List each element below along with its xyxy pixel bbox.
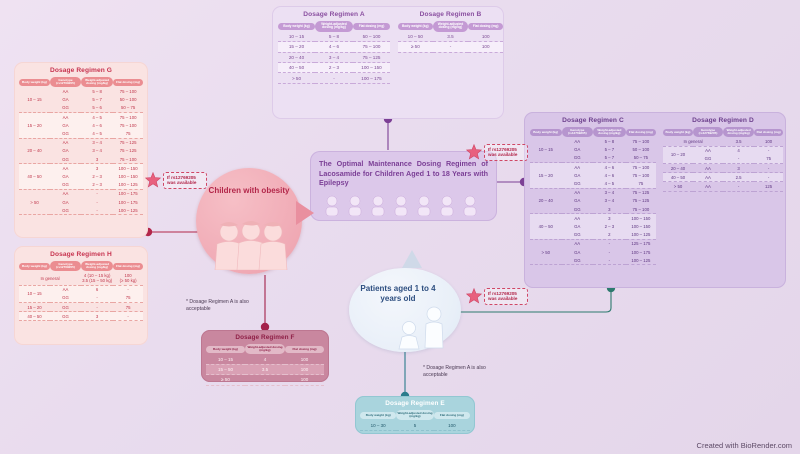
cell-genotype: GA <box>562 248 594 256</box>
cell-body-weight: 10 – 15 <box>19 285 50 302</box>
table-row: 10 – 15AA5 – 875 – 100 <box>530 137 656 145</box>
table-regimen-d: Dosage Regimen D Body weight (kg) Genoty… <box>663 117 783 283</box>
cell-weight-adjusted: 3 <box>593 205 626 214</box>
table-row: 20 – 40AA3 – 475 – 125 <box>530 188 656 197</box>
cell-weight-adjusted: - <box>315 73 353 83</box>
cell-flat-dosing: 75 – 100 <box>113 87 143 95</box>
cell-flat-dosing: 100 – 125 <box>113 206 143 215</box>
table-row: 40 – 50GG3- <box>19 312 143 321</box>
cell-weight-adjusted: 4 – 6 <box>315 42 353 52</box>
cell-genotype: GA <box>562 197 594 205</box>
cell-weight-adjusted: 3 – 4 <box>593 188 626 197</box>
cell-flat-dosing: 75 – 125 <box>626 197 656 205</box>
cell-genotype: GG <box>50 104 81 113</box>
cell-weight-adjusted: 4 – 5 <box>81 113 113 122</box>
cell-weight-adjusted: 4 <box>723 146 754 155</box>
cell-weight-adjusted: 2 – 3 <box>81 172 113 180</box>
header-flat-dosing: Flat dosing (mg) <box>353 23 390 30</box>
table-row: > 50AA-100 – 175 <box>19 189 143 198</box>
cell-genotype: GG <box>50 303 81 312</box>
regimen-g-title: Dosage Regimen G <box>19 67 143 74</box>
panel-regimen-a-b: Dosage Regimen A Body weight (kg) Weight… <box>272 6 504 119</box>
header-genotype: Genotype (rs12769205) <box>693 127 723 137</box>
cell-flat-dosing: 125 <box>754 182 783 191</box>
cell-body-weight: In general <box>663 137 723 146</box>
cell-flat-dosing: 75 <box>113 303 143 312</box>
header-body-weight: Body weight (kg) <box>206 346 245 353</box>
cell-flat-dosing: 50 – 100 <box>113 96 143 104</box>
cell-weight-adjusted: 4 – 5 <box>81 129 113 138</box>
table-row: 20 – 403 – 475 – 125 <box>278 52 390 62</box>
page-title: The Optimal Maintenance Dosing Regimen o… <box>319 159 488 188</box>
cell-body-weight: 10 – 15 <box>278 32 315 42</box>
cell-genotype: GG <box>50 129 81 138</box>
cell-flat-dosing: 100 – 150 <box>626 214 656 223</box>
cell-body-weight: 10 – 15 <box>530 137 562 162</box>
cell-weight-adjusted: - <box>723 182 754 191</box>
cell-weight-adjusted: 4 – 6 <box>593 171 626 179</box>
cell-weight-adjusted: 4 – 5 <box>593 179 626 188</box>
cell-flat-dosing: 100 <box>468 32 503 42</box>
cell-flat-dosing: 75 – 125 <box>353 52 390 62</box>
cell-body-weight: 40 – 50 <box>19 164 50 190</box>
cell-weight-adjusted: - <box>593 256 626 265</box>
young-patients-label: Patients aged 1 to 4 years old <box>355 284 441 304</box>
cell-flat-dosing: - <box>113 285 143 294</box>
table-row: 10 – 15AA5 – 875 – 100 <box>19 87 143 95</box>
cell-genotype: GA <box>562 146 594 154</box>
cell-genotype: GG <box>562 231 594 240</box>
young-patients-note: * Dosage Regimen A is also acceptable <box>423 365 509 378</box>
cell-body-weight: 15 – 20 <box>19 113 50 139</box>
cell-flat-dosing: 100 <box>285 354 324 364</box>
cell-weight-adjusted: - <box>593 239 626 248</box>
header-flat-dosing: Flat dosing (mg) <box>468 23 503 30</box>
table-row: 20 – 40AA3 – 475 – 125 <box>19 138 143 147</box>
panel-regimen-c-d: Dosage Regimen C Body weight (kg) Genoty… <box>524 112 786 288</box>
header-flat-dosing: Flat dosing (mg) <box>113 79 143 86</box>
cell-flat-dosing: 100 – 175 <box>353 73 390 83</box>
cell-weight-adjusted: - <box>81 294 113 303</box>
cell-weight-adjusted: 3 <box>81 155 113 164</box>
cell-body-weight: 10 – 30 <box>360 420 396 430</box>
header-body-weight: Body weight (kg) <box>663 129 693 136</box>
cell-body-weight: > 50 <box>663 182 693 191</box>
callout-right-text: If rs12769205 was available <box>484 144 528 161</box>
table-row: 15 – 204 – 675 – 100 <box>278 42 390 52</box>
star-icon <box>466 288 482 304</box>
cell-body-weight: 15 – 20 <box>19 303 50 312</box>
cell-genotype: AA <box>562 188 594 197</box>
cell-flat-dosing: 125 – 175 <box>626 239 656 248</box>
cell-flat-dosing: 100 – 150 <box>113 164 143 173</box>
cell-weight-adjusted: 2 – 3 <box>315 63 353 73</box>
cell-genotype: AA <box>50 113 81 122</box>
cell-weight-adjusted: 5 – 7 <box>593 154 626 163</box>
cell-body-weight: > 50 <box>530 239 562 265</box>
cell-genotype: AA <box>50 164 81 173</box>
table-row: > 50AA-125 <box>663 182 783 191</box>
callout-left-rs12769205: If rs12769205 was available <box>145 172 207 189</box>
cell-body-weight: 10 – 50 <box>398 32 433 42</box>
regimen-h-title: Dosage Regimen H <box>19 251 143 258</box>
obese-children-icon <box>205 220 297 270</box>
cell-flat-dosing: 100 – 175 <box>113 189 143 198</box>
table-regimen-c: Dosage Regimen C Body weight (kg) Genoty… <box>530 117 656 283</box>
cell-genotype: GG <box>50 206 81 215</box>
cell-flat-dosing: - <box>754 173 783 182</box>
regimen-d-title: Dosage Regimen D <box>663 117 783 124</box>
cell-body-weight: 40 – 50 <box>19 312 50 321</box>
cell-flat-dosing: 75 – 100 <box>626 171 656 179</box>
cell-weight-adjusted: 4 – 6 <box>81 121 113 129</box>
table-row: In general4 (10 – 15 kg) 3.5 (15 – 50 kg… <box>19 271 143 285</box>
young-patients-bubble: Patients aged 1 to 4 years old <box>349 268 461 352</box>
header-body-weight: Body weight (kg) <box>360 412 396 419</box>
cell-genotype: AA <box>50 285 81 294</box>
header-body-weight: Body weight (kg) <box>19 79 50 86</box>
cell-body-weight: 40 – 50 <box>530 214 562 240</box>
cell-genotype: GA <box>562 171 594 179</box>
obesity-group-bubble: Children with obesity <box>196 168 302 274</box>
table-row: 10 – 503.5100 <box>398 32 503 42</box>
cell-weight-adjusted: 5 – 8 <box>593 137 626 145</box>
cell-genotype: GG <box>562 205 594 214</box>
cell-weight-adjusted: 4 (10 – 15 kg) 3.5 (15 – 50 kg) <box>81 271 113 285</box>
cell-weight-adjusted: - <box>81 303 113 312</box>
table-row: 10 – 305100 <box>360 420 470 430</box>
header-weight-adjusted: Weight-adjusted dosing (mg/kg) <box>315 21 353 32</box>
children-row-icon <box>320 194 488 216</box>
cell-genotype: GG <box>562 179 594 188</box>
table-row: ≥ 50-100 <box>398 42 503 52</box>
cell-genotype: GG <box>693 155 723 164</box>
panel-regimen-h: Dosage Regimen H Body weight (kg) Genoty… <box>14 246 148 345</box>
cell-flat-dosing: 75 – 100 <box>626 137 656 145</box>
header-genotype: Genotype (rs12769205) <box>50 77 81 87</box>
cell-flat-dosing: 75 – 100 <box>626 205 656 214</box>
cell-weight-adjusted: 2 – 3 <box>81 181 113 190</box>
table-row: 10 – 154100 <box>206 354 324 364</box>
cell-weight-adjusted: 5 <box>396 420 433 430</box>
cell-genotype: GG <box>562 256 594 265</box>
cell-genotype: GG <box>50 294 81 303</box>
panel-regimen-f: Dosage Regimen F Body weight (kg) Weight… <box>201 330 329 382</box>
cell-genotype: GA <box>562 222 594 230</box>
cell-flat-dosing: 100 – 125 <box>113 181 143 190</box>
cell-flat-dosing: 75 – 100 <box>113 113 143 122</box>
cell-weight-adjusted: - <box>81 189 113 198</box>
cell-weight-adjusted: 5 – 7 <box>81 96 113 104</box>
cell-weight-adjusted: 3 – 4 <box>81 138 113 147</box>
header-weight-adjusted: Weight-adjusted dosing (mg/kg) <box>433 21 469 32</box>
cell-flat-dosing: 50 – 75 <box>626 154 656 163</box>
table-row: 40 – 50AA3100 – 150 <box>530 214 656 223</box>
cell-flat-dosing: 75 – 100 <box>113 121 143 129</box>
cell-body-weight: > 50 <box>19 189 50 215</box>
table-row: 40 – 50AA2.5- <box>663 173 783 182</box>
cell-body-weight: 40 – 50 <box>663 173 693 182</box>
table-row: 15 – 20GG-75 <box>19 303 143 312</box>
callout-bottom-rs12769205: If rs12769205 was available <box>466 288 528 305</box>
cell-body-weight: 20 – 40 <box>663 164 693 173</box>
young-arrow-icon <box>398 246 428 276</box>
header-flat-dosing: Flat dosing (mg) <box>434 412 470 419</box>
cell-weight-adjusted: 2.5 <box>723 173 754 182</box>
cell-body-weight: ≥ 50 <box>398 42 433 52</box>
cell-genotype: AA <box>693 182 723 191</box>
cell-weight-adjusted: 3 – 4 <box>81 147 113 155</box>
cell-body-weight: > 50 <box>278 73 315 83</box>
cell-flat-dosing: 100 – 150 <box>626 222 656 230</box>
header-genotype: Genotype (rs12769205) <box>562 127 594 137</box>
cell-weight-adjusted: 5 – 7 <box>593 146 626 154</box>
cell-genotype: AA <box>693 173 723 182</box>
cell-flat-dosing: 75 – 100 <box>353 42 390 52</box>
star-icon <box>145 172 161 188</box>
cell-flat-dosing: 75 – 100 <box>626 163 656 172</box>
cell-genotype: AA <box>562 214 594 223</box>
cell-weight-adjusted: 3.5 <box>433 32 469 42</box>
cell-flat-dosing: 100 <box>468 42 503 52</box>
cell-weight-adjusted: - <box>433 42 469 52</box>
cell-flat-dosing: 75 <box>626 179 656 188</box>
cell-body-weight: 40 – 50 <box>278 63 315 73</box>
regimen-c-title: Dosage Regimen C <box>530 117 656 124</box>
cell-weight-adjusted: - <box>723 155 754 164</box>
cell-genotype: GA <box>50 198 81 206</box>
cell-weight-adjusted: 5 – 8 <box>315 32 353 42</box>
header-body-weight: Body weight (kg) <box>278 23 315 30</box>
cell-weight-adjusted: 4 – 6 <box>593 163 626 172</box>
cell-flat-dosing: 75 <box>754 155 783 164</box>
cell-weight-adjusted: 6 <box>81 285 113 294</box>
cell-genotype: GA <box>50 172 81 180</box>
cell-flat-dosing: 50 – 100 <box>353 32 390 42</box>
cell-genotype: AA <box>50 87 81 95</box>
cell-weight-adjusted: - <box>81 206 113 215</box>
obesity-label: Children with obesity <box>204 186 294 196</box>
star-icon <box>466 144 482 160</box>
table-row: 40 – 502 – 3100 – 150 <box>278 63 390 73</box>
header-weight-adjusted: Weight-adjusted dosing (mg/kg) <box>81 261 113 271</box>
cell-flat-dosing: 100 – 125 <box>626 231 656 240</box>
table-row: 20 – 40AA3- <box>663 164 783 173</box>
header-flat-dosing: Flat dosing (mg) <box>113 263 143 270</box>
header-flat-dosing: Flat dosing (mg) <box>285 346 324 353</box>
cell-flat-dosing: 100 – 150 <box>113 172 143 180</box>
header-flat-dosing: Flat dosing (mg) <box>754 129 783 136</box>
diagram-canvas: Dosage Regimen A Body weight (kg) Weight… <box>0 0 800 454</box>
header-weight-adjusted: Weight-adjusted dosing (mg/kg) <box>593 127 626 137</box>
cell-weight-adjusted: 2 <box>593 231 626 240</box>
cell-body-weight: 15 – 20 <box>530 163 562 189</box>
cell-flat-dosing: 75 <box>113 294 143 303</box>
cell-flat-dosing: - <box>113 312 143 321</box>
cell-flat-dosing: 100 – 175 <box>626 248 656 256</box>
cell-flat-dosing: 100 <box>434 420 470 430</box>
cell-genotype: GG <box>562 154 594 163</box>
table-row: 15 – 20AA4 – 675 – 100 <box>530 163 656 172</box>
cell-weight-adjusted: - <box>81 198 113 206</box>
table-row: > 50-100 – 175 <box>278 73 390 83</box>
header-genotype: Genotype (rs12769205) <box>50 261 81 271</box>
table-row: 15 – 503.5100 <box>206 364 324 374</box>
header-weight-adjusted: Weight-adjusted dosing (mg/kg) <box>245 344 285 354</box>
regimen-e-title: Dosage Regimen E <box>360 400 470 407</box>
table-row: 15 – 20AA4 – 575 – 100 <box>19 113 143 122</box>
header-weight-adjusted: Weight-adjusted dosing (mg/kg) <box>81 77 113 87</box>
cell-genotype: GA <box>50 121 81 129</box>
panel-regimen-e: Dosage Regimen E Body weight (kg) Weight… <box>355 396 475 434</box>
cell-flat-dosing: 75 – 125 <box>626 188 656 197</box>
cell-weight-adjusted: 5 – 8 <box>81 87 113 95</box>
cell-flat-dosing: 100 <box>285 364 324 374</box>
table-regimen-a: Dosage Regimen A Body weight (kg) Weight… <box>278 11 390 114</box>
cell-body-weight: 10 – 20 <box>663 146 693 163</box>
header-weight-adjusted: Weight-adjusted dosing (mg/kg) <box>723 127 754 137</box>
cell-weight-adjusted: 3 <box>81 312 113 321</box>
cell-weight-adjusted: 3 – 4 <box>593 197 626 205</box>
cell-flat-dosing: - <box>754 146 783 155</box>
cell-weight-adjusted: 3 <box>723 164 754 173</box>
cell-genotype: GG <box>50 312 81 321</box>
cell-body-weight: 20 – 40 <box>19 138 50 164</box>
cell-weight-adjusted: 3.5 <box>245 364 285 374</box>
cell-body-weight: In general <box>19 271 81 285</box>
table-row: ≥ 50-100 <box>206 375 324 385</box>
callout-bottom-text: If rs12769205 was available <box>484 288 528 305</box>
header-flat-dosing: Flat dosing (mg) <box>626 129 656 136</box>
cell-flat-dosing: 100 – 150 <box>353 63 390 73</box>
regimen-a-title: Dosage Regimen A <box>278 11 390 18</box>
cell-genotype: AA <box>562 239 594 248</box>
cell-body-weight: 20 – 40 <box>530 188 562 214</box>
cell-flat-dosing: 100 – 125 <box>626 256 656 265</box>
regimen-f-title: Dosage Regimen F <box>206 334 324 341</box>
cell-genotype: AA <box>693 146 723 155</box>
cell-weight-adjusted: 4 <box>245 354 285 364</box>
cell-flat-dosing: 50 – 100 <box>626 146 656 154</box>
cell-genotype: GA <box>50 147 81 155</box>
hero-title-box: The Optimal Maintenance Dosing Regimen o… <box>310 151 497 221</box>
cell-body-weight: 10 – 15 <box>206 354 245 364</box>
toddler-child-icon <box>393 306 453 350</box>
cell-flat-dosing: 100 <box>754 137 783 146</box>
table-row: 10 – 155 – 850 – 100 <box>278 32 390 42</box>
obesity-note: * Dosage Regimen A is also acceptable <box>186 299 272 312</box>
cell-flat-dosing: 100 – 175 <box>113 198 143 206</box>
cell-weight-adjusted: 3 <box>81 164 113 173</box>
cell-flat-dosing: 75 – 125 <box>113 147 143 155</box>
panel-regimen-g: Dosage Regimen G Body weight (kg) Genoty… <box>14 62 148 238</box>
cell-flat-dosing: 50 – 75 <box>113 104 143 113</box>
regimen-b-title: Dosage Regimen B <box>398 11 503 18</box>
biorender-credit: Created with BioRender.com <box>697 441 792 450</box>
obesity-arrow-icon <box>296 195 336 235</box>
cell-flat-dosing: 75 – 100 <box>113 155 143 164</box>
table-row: 10 – 20AA4- <box>663 146 783 155</box>
cell-flat-dosing: 75 <box>113 129 143 138</box>
cell-weight-adjusted: 3 <box>593 214 626 223</box>
cell-flat-dosing: 100 (≥ 50 kg) <box>113 271 143 285</box>
cell-genotype: GA <box>50 96 81 104</box>
table-row: In general3.5100 <box>663 137 783 146</box>
cell-flat-dosing: - <box>754 164 783 173</box>
table-row: > 50AA-125 – 175 <box>530 239 656 248</box>
cell-body-weight: 20 – 40 <box>278 52 315 62</box>
cell-body-weight: ≥ 50 <box>206 375 245 385</box>
header-weight-adjusted: Weight-adjusted dosing (mg/kg) <box>396 410 433 420</box>
table-regimen-b: Dosage Regimen B Body weight (kg) Weight… <box>398 11 503 114</box>
callout-left-text: If rs12769205 was available <box>163 172 207 189</box>
cell-flat-dosing: 100 <box>285 375 324 385</box>
cell-flat-dosing: 75 – 125 <box>113 138 143 147</box>
cell-body-weight: 10 – 15 <box>19 87 50 112</box>
table-row: 40 – 50AA3100 – 150 <box>19 164 143 173</box>
cell-genotype: AA <box>50 138 81 147</box>
cell-body-weight: 15 – 50 <box>206 364 245 374</box>
table-row: 10 – 15AA6- <box>19 285 143 294</box>
cell-body-weight: 15 – 20 <box>278 42 315 52</box>
callout-right-rs12769205: If rs12769205 was available <box>466 144 528 161</box>
cell-weight-adjusted: - <box>245 375 285 385</box>
cell-weight-adjusted: 3 – 4 <box>315 52 353 62</box>
cell-weight-adjusted: 3.5 <box>723 137 754 146</box>
header-body-weight: Body weight (kg) <box>19 263 50 270</box>
cell-genotype: AA <box>50 189 81 198</box>
header-body-weight: Body weight (kg) <box>398 23 433 30</box>
cell-genotype: AA <box>562 163 594 172</box>
cell-genotype: GG <box>50 155 81 164</box>
cell-genotype: GG <box>50 181 81 190</box>
cell-weight-adjusted: - <box>593 248 626 256</box>
cell-weight-adjusted: 2 – 3 <box>593 222 626 230</box>
cell-genotype: AA <box>562 137 594 145</box>
cell-weight-adjusted: 5 – 6 <box>81 104 113 113</box>
cell-genotype: AA <box>693 164 723 173</box>
header-body-weight: Body weight (kg) <box>530 129 562 136</box>
